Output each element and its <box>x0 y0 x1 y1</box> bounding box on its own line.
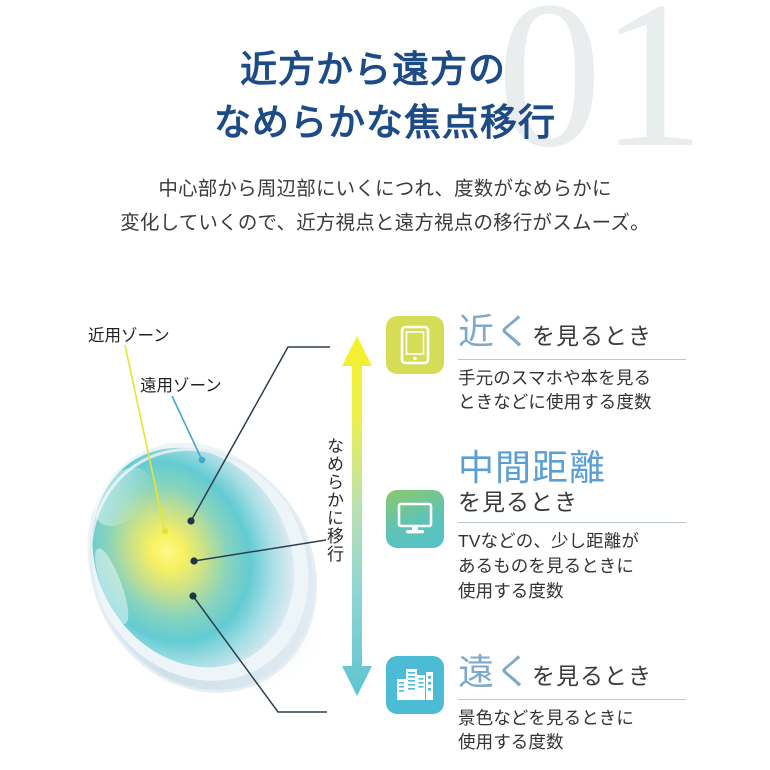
section-middle-heading: 中間距離 を見るとき <box>458 448 706 515</box>
lead-description: 中心部から周辺部にいくにつれ、度数がなめらかに 変化していくので、近方視点と遠方… <box>0 172 770 240</box>
zone-label-far: 遠用ゾーン <box>140 372 222 396</box>
smooth-transition-arrow <box>340 336 374 696</box>
section-middle-description: TVなどの、少し距離が あるものを見るときに 使用する度数 <box>458 529 706 604</box>
section-middle-heading-main: 中間距離 <box>458 448 706 488</box>
section-far-heading-main: 遠く <box>458 651 532 692</box>
page-title: 近方から遠方の なめらかな焦点移行 <box>0 44 770 149</box>
section-middle-desc-line-2: あるものを見るときに <box>458 554 706 579</box>
section-far: 遠くを見るとき 景色などを見るときに 使用する度数 <box>386 652 706 755</box>
page-title-line-2: なめらかな焦点移行 <box>0 97 770 150</box>
section-near: 近くを見るとき 手元のスマホや本を見る ときなどに使用する度数 <box>386 312 706 415</box>
buildings-icon <box>386 656 444 714</box>
section-middle-desc-line-1: TVなどの、少し距離が <box>458 529 706 554</box>
monitor-icon <box>386 490 444 548</box>
section-near-divider <box>458 359 686 360</box>
section-near-desc-line-2: ときなどに使用する度数 <box>458 390 706 415</box>
smooth-transition-label: なめらかに移行 <box>318 437 344 563</box>
page-title-line-1: 近方から遠方の <box>0 44 770 97</box>
section-near-desc-line-1: 手元のスマホや本を見る <box>458 366 706 391</box>
lead-line-1: 中心部から周辺部にいくにつれ、度数がなめらかに <box>0 172 770 206</box>
section-middle: 中間距離 を見るとき TVなどの、少し距離が あるものを見るときに 使用する度数 <box>386 448 706 603</box>
section-far-heading: 遠くを見るとき <box>458 652 706 692</box>
section-far-heading-sub: を見るとき <box>532 663 652 689</box>
infographic-page: 01 近方から遠方の なめらかな焦点移行 中心部から周辺部にいくにつれ、度数がな… <box>0 0 770 770</box>
section-near-heading-main: 近く <box>458 311 532 352</box>
lead-line-2: 変化していくので、近方視点と遠方視点の移行がスムーズ。 <box>0 206 770 240</box>
contact-lens-illustration <box>52 420 352 720</box>
section-near-body: 近くを見るとき 手元のスマホや本を見る ときなどに使用する度数 <box>458 312 706 415</box>
smartphone-icon <box>386 316 444 374</box>
section-middle-body: 中間距離 を見るとき TVなどの、少し距離が あるものを見るときに 使用する度数 <box>458 448 706 603</box>
section-near-heading: 近くを見るとき <box>458 312 706 352</box>
section-far-body: 遠くを見るとき 景色などを見るときに 使用する度数 <box>458 652 706 755</box>
section-far-desc-line-1: 景色などを見るときに <box>458 706 706 731</box>
section-near-heading-sub: を見るとき <box>532 323 652 349</box>
section-far-desc-line-2: 使用する度数 <box>458 730 706 755</box>
section-far-divider <box>458 699 686 700</box>
section-near-description: 手元のスマホや本を見る ときなどに使用する度数 <box>458 366 706 416</box>
section-middle-divider <box>458 522 686 523</box>
zone-label-near: 近用ゾーン <box>88 322 170 346</box>
section-far-description: 景色などを見るときに 使用する度数 <box>458 706 706 756</box>
section-middle-heading-sub: を見るとき <box>458 490 706 515</box>
section-middle-desc-line-3: 使用する度数 <box>458 579 706 604</box>
